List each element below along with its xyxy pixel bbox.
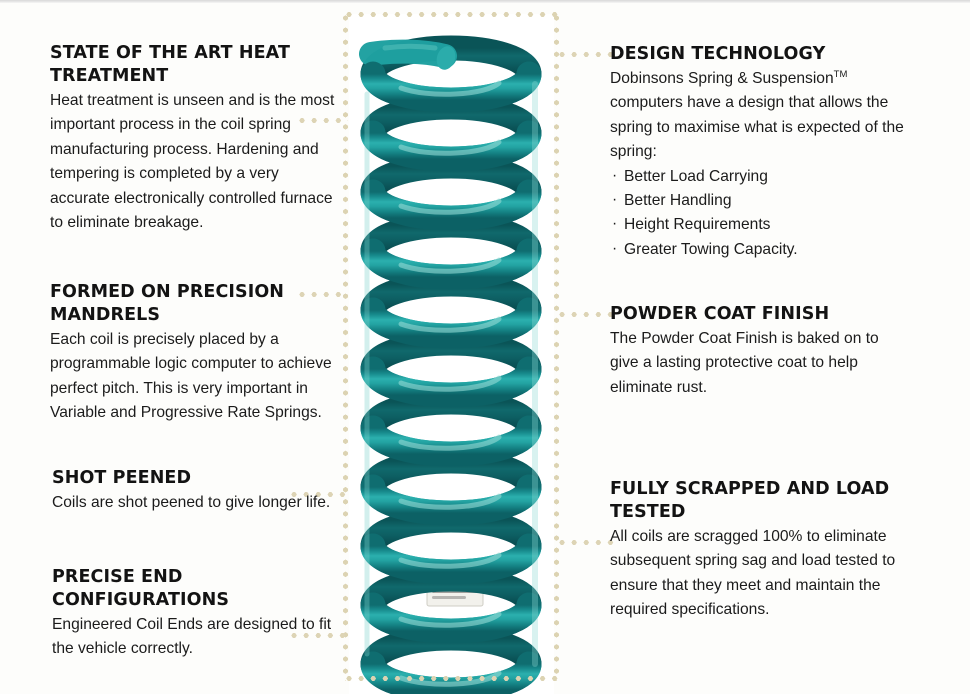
feature-body: All coils are scragged 100% to eliminate…	[610, 525, 910, 623]
feature-heading: FORMED ON PRECISION MANDRELS	[50, 281, 340, 327]
feature-heading: PRECISE END CONFIGURATIONS	[52, 566, 340, 612]
feature-precision-mandrels: FORMED ON PRECISION MANDRELS Each coil i…	[50, 281, 340, 426]
feature-heading: STATE OF THE ART HEAT TREATMENT	[50, 42, 340, 88]
feature-body: Engineered Coil Ends are designed to fit…	[52, 613, 340, 662]
feature-shot-peened: SHOT PEENED Coils are shot peened to giv…	[52, 467, 332, 515]
list-item: Better Load Carrying	[610, 165, 910, 189]
leader-powder-coat-finish	[556, 312, 614, 317]
feature-body-text: Dobinsons Spring & Suspension	[610, 70, 834, 87]
list-item: Better Handling	[610, 189, 910, 213]
feature-body-text-cont: computers have a design that allows the …	[610, 94, 904, 160]
feature-body: Coils are shot peened to give longer lif…	[52, 491, 332, 515]
feature-heading: POWDER COAT FINISH	[610, 303, 910, 326]
frame-dots-left	[343, 12, 348, 681]
list-item: Height Requirements	[610, 213, 910, 237]
feature-powder-coat-finish: POWDER COAT FINISH The Powder Coat Finis…	[610, 303, 910, 400]
leader-fully-scrapped	[556, 540, 614, 545]
frame-dots-right	[554, 12, 559, 681]
feature-body: Each coil is precisely placed by a progr…	[50, 328, 340, 426]
trademark-mark: TM	[834, 69, 848, 80]
feature-heading: FULLY SCRAPPED AND LOAD TESTED	[610, 478, 910, 524]
feature-heading: DESIGN TECHNOLOGY	[610, 43, 910, 66]
feature-body: The Powder Coat Finish is baked on to gi…	[610, 327, 910, 400]
leader-design-technology	[556, 52, 614, 57]
feature-fully-scrapped-load-tested: FULLY SCRAPPED AND LOAD TESTED All coils…	[610, 478, 910, 623]
feature-design-technology: DESIGN TECHNOLOGY Dobinsons Spring & Sus…	[610, 43, 910, 262]
feature-body: Dobinsons Spring & SuspensionTM computer…	[610, 67, 910, 165]
top-edge-rule	[0, 0, 970, 3]
infographic-page: STATE OF THE ART HEAT TREATMENT Heat tre…	[0, 0, 970, 694]
feature-heading: SHOT PEENED	[52, 467, 332, 490]
feature-bullet-list: Better Load Carrying Better Handling Hei…	[610, 165, 910, 263]
feature-precise-end-configurations: PRECISE END CONFIGURATIONS Engineered Co…	[52, 566, 340, 662]
list-item: Greater Towing Capacity.	[610, 238, 910, 262]
coil-spring-photo	[349, 14, 554, 694]
feature-body: Heat treatment is unseen and is the most…	[50, 89, 340, 235]
feature-heat-treatment: STATE OF THE ART HEAT TREATMENT Heat tre…	[50, 42, 340, 235]
